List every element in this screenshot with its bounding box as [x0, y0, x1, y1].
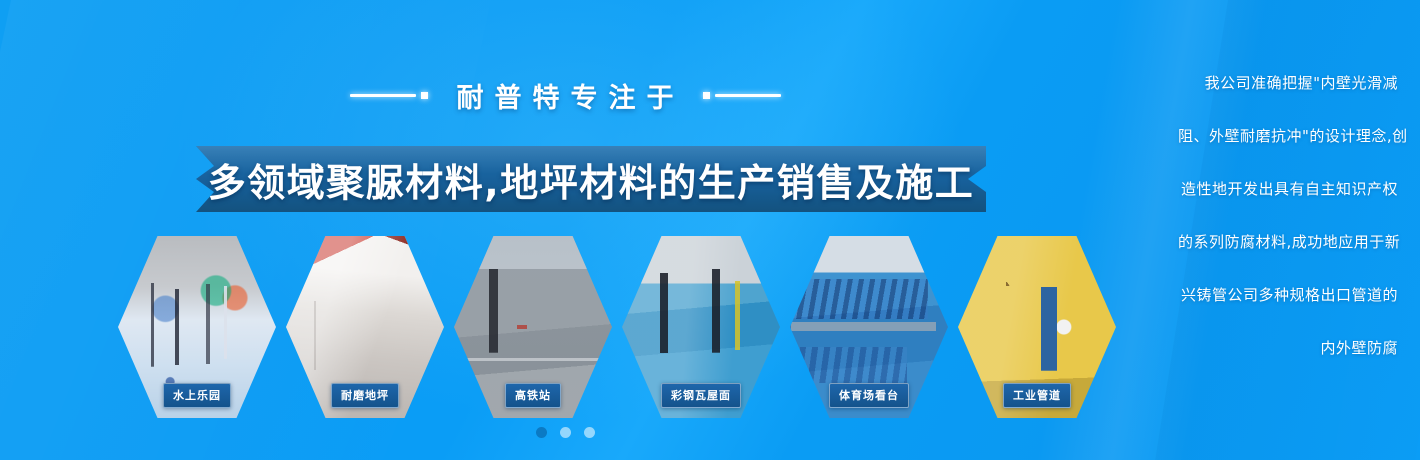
hexagon-item-waterpark[interactable]: 水上乐园 [118, 236, 276, 418]
hexagon-gallery: 水上乐园 耐磨地坪 高铁站 彩钢瓦屋面 体育场看台 工业管道 [118, 236, 1133, 418]
hexagon-caption: 高铁站 [505, 383, 561, 408]
eyebrow-rule-dot-right [703, 92, 710, 99]
headline-ribbon: 多领域聚脲材料,地坪材料的生产销售及施工 [196, 146, 986, 212]
hexagon-item-high-speed-rail-station[interactable]: 高铁站 [454, 236, 612, 418]
description-line: 的系列防腐材料,成功地应用于新 [1178, 235, 1398, 250]
hexagon-caption: 耐磨地坪 [331, 383, 399, 408]
headline-text: 多领域聚脲材料,地坪材料的生产销售及施工 [208, 152, 974, 207]
carousel-pagination [0, 427, 1420, 438]
hexagon-caption: 体育场看台 [829, 383, 909, 408]
eyebrow-rule-bar-left [350, 94, 416, 97]
hexagon-caption: 工业管道 [1003, 383, 1071, 408]
description-line: 造性地开发出具有自主知识产权 [1178, 182, 1398, 197]
hexagon-item-wear-resistant-floor[interactable]: 耐磨地坪 [286, 236, 444, 418]
pagination-dot-2[interactable] [560, 427, 571, 438]
description-line: 阻、外壁耐磨抗冲"的设计理念,创 [1178, 129, 1398, 144]
eyebrow-rule-left-icon [350, 92, 428, 99]
pagination-dot-3[interactable] [584, 427, 595, 438]
eyebrow-rule-bar-right [715, 94, 781, 97]
hexagon-caption: 水上乐园 [163, 383, 231, 408]
description-line: 我公司准确把握"内壁光滑减 [1178, 76, 1398, 91]
hexagon-caption: 彩钢瓦屋面 [661, 383, 741, 408]
description-line: 兴铸管公司多种规格出口管道的 [1178, 288, 1398, 303]
eyebrow-rule-right-icon [703, 92, 781, 99]
hexagon-item-stadium-stand[interactable]: 体育场看台 [790, 236, 948, 418]
hexagon-item-color-steel-tile-roof[interactable]: 彩钢瓦屋面 [622, 236, 780, 418]
eyebrow-rule-dot-left [421, 92, 428, 99]
eyebrow-row: 耐普特专注于 [0, 76, 1130, 115]
company-description: 我公司准确把握"内壁光滑减 阻、外壁耐磨抗冲"的设计理念,创 造性地开发出具有自… [1178, 76, 1398, 356]
headline-ribbon-wrap: 多领域聚脲材料,地坪材料的生产销售及施工 [196, 146, 986, 212]
hero-banner: 耐普特专注于 多领域聚脲材料,地坪材料的生产销售及施工 水上乐园 耐磨地坪 高铁… [0, 0, 1420, 460]
pagination-dot-1[interactable] [536, 427, 547, 438]
eyebrow-text: 耐普特专注于 [446, 76, 685, 115]
description-line: 内外壁防腐 [1178, 341, 1398, 356]
hexagon-item-industrial-pipeline[interactable]: 工业管道 [958, 236, 1116, 418]
